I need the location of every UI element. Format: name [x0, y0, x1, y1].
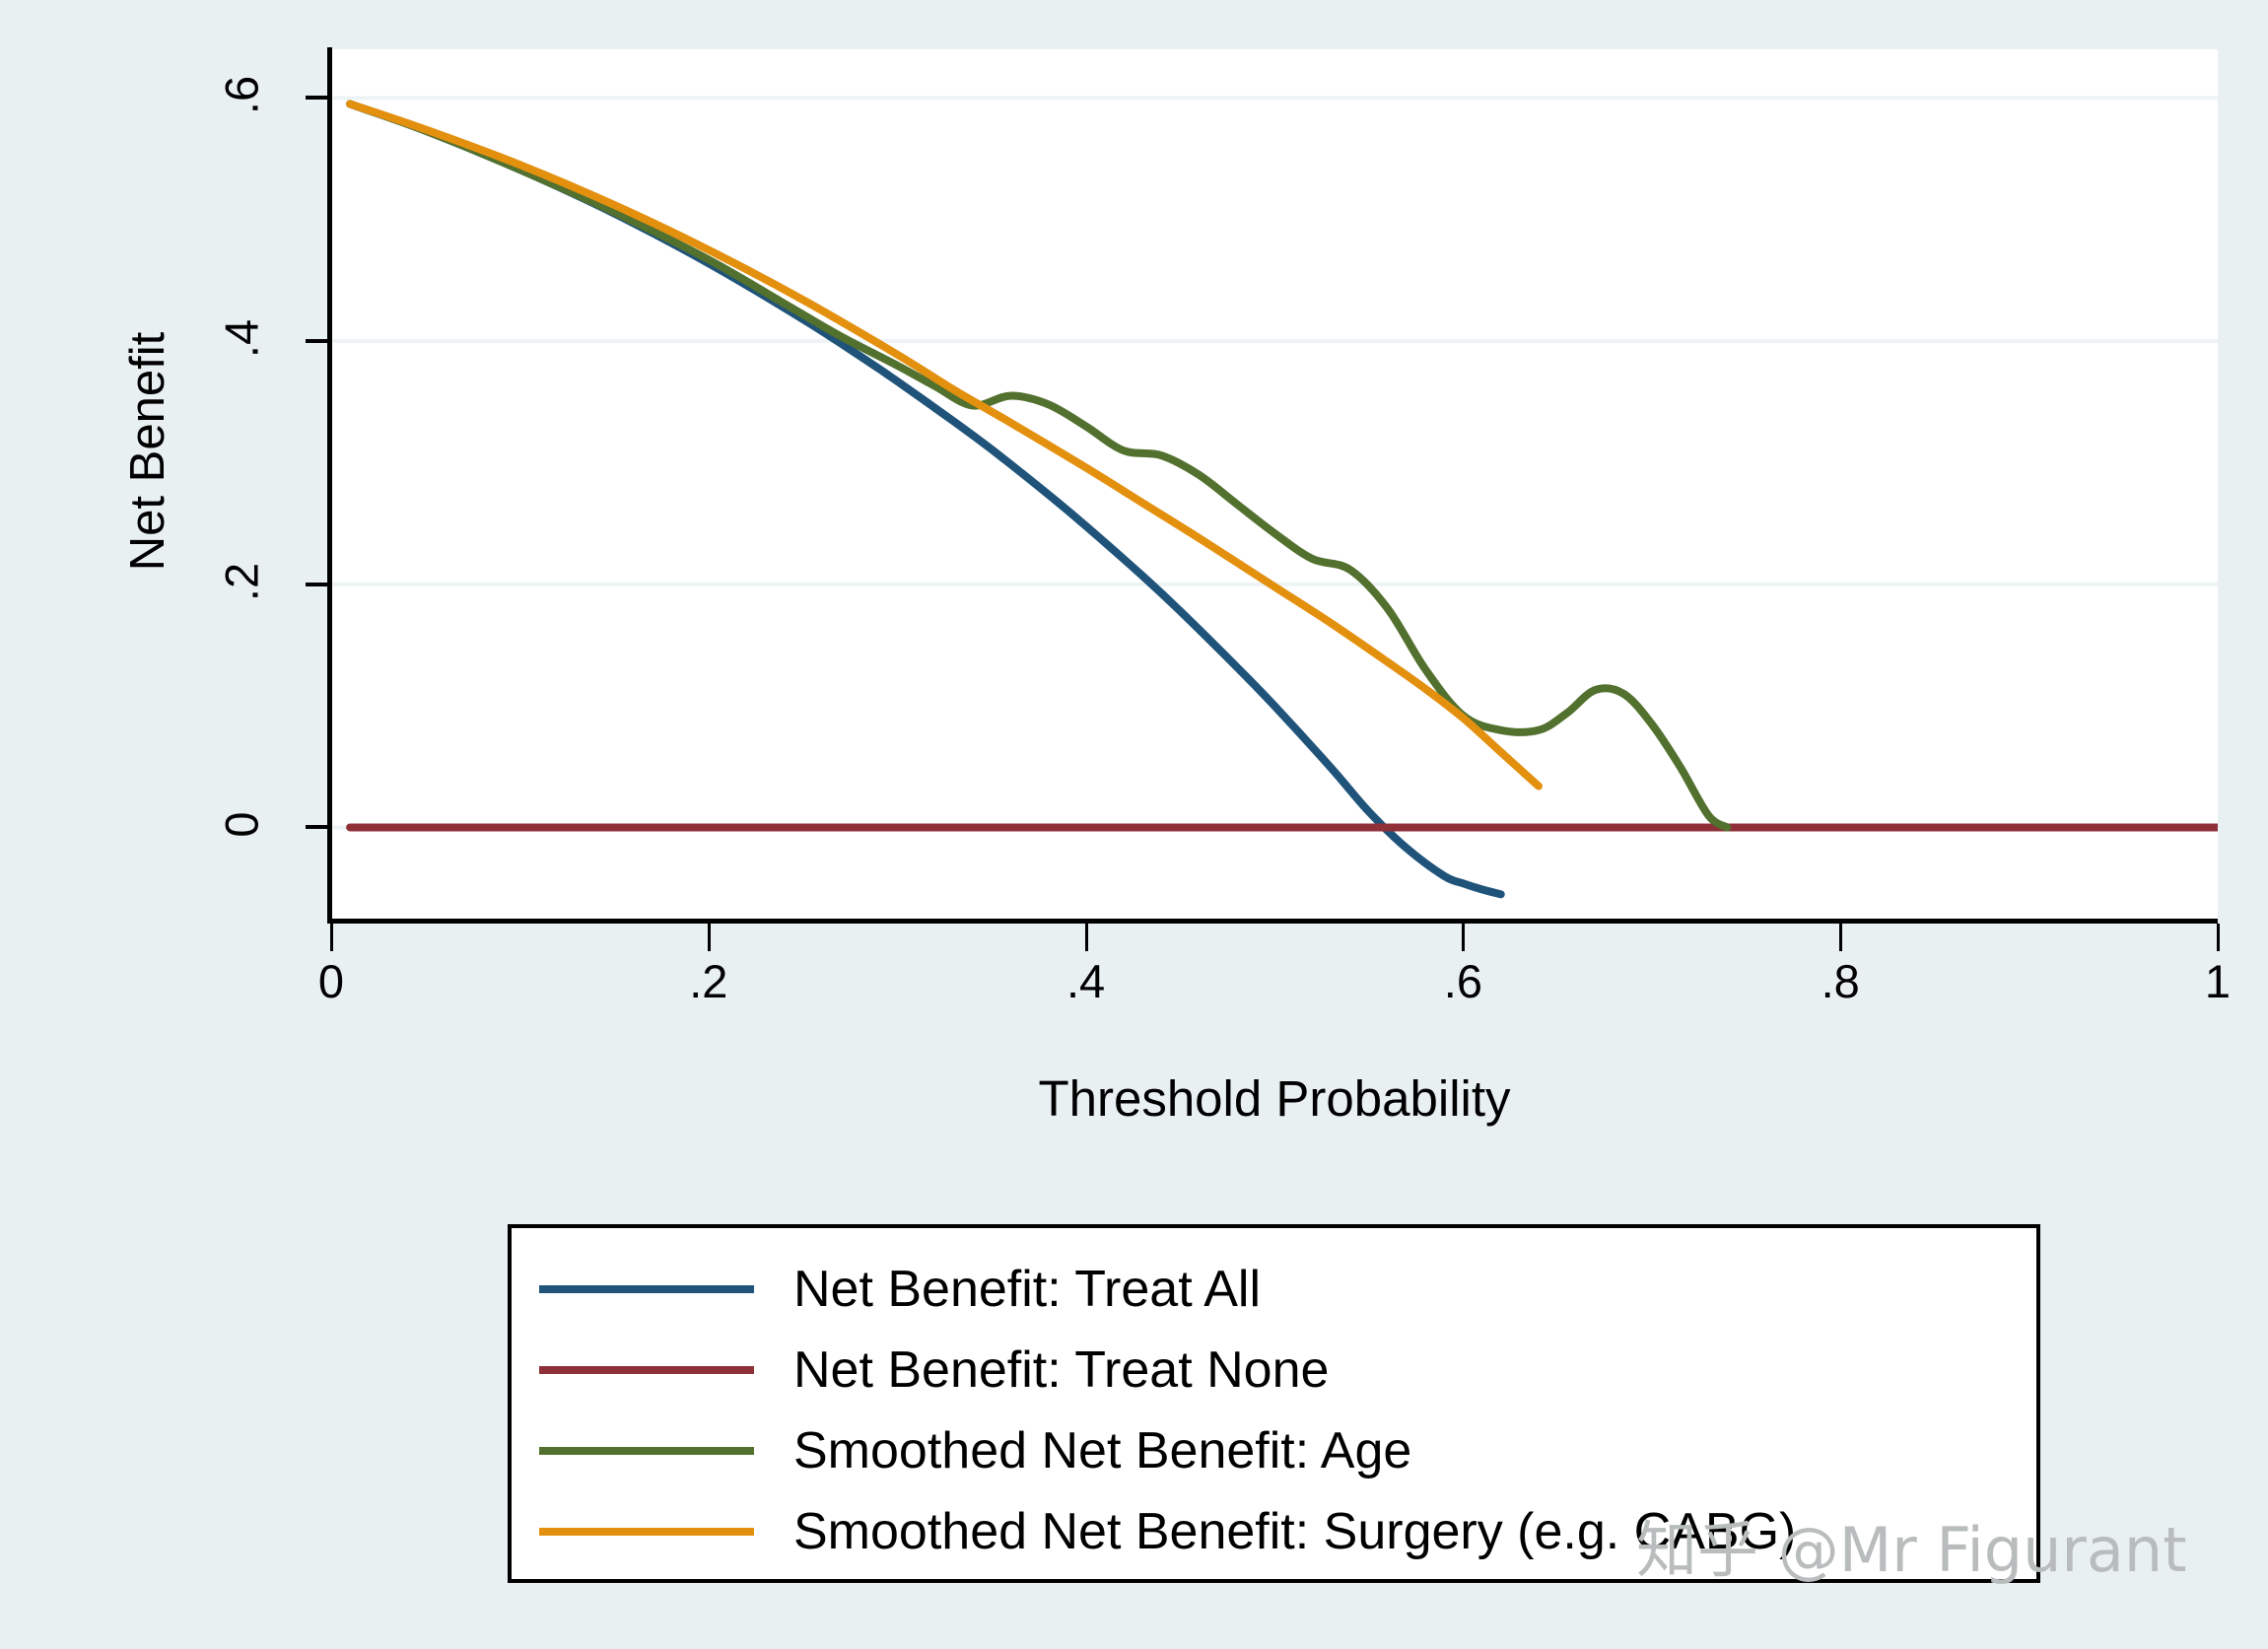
series-line-3	[350, 104, 1539, 787]
legend-swatch-treat-all	[539, 1285, 754, 1293]
x-tick-label-5: 1	[2159, 958, 2268, 1004]
x-tick-label-0: 0	[272, 958, 390, 1004]
x-tick-0	[330, 924, 333, 951]
legend-label-treat-all: Net Benefit: Treat All	[793, 1264, 1261, 1315]
legend: Net Benefit: Treat All Net Benefit: Trea…	[508, 1224, 2040, 1583]
x-tick-2	[1085, 924, 1088, 951]
y-tick-label-2: .4	[219, 285, 265, 393]
legend-swatch-age	[539, 1447, 754, 1455]
x-axis-line	[327, 919, 2218, 924]
legend-item-surgery: Smoothed Net Benefit: Surgery (e.g. CABG…	[539, 1492, 1796, 1571]
y-axis-line	[327, 47, 332, 923]
x-tick-label-4: .8	[1781, 958, 1899, 1004]
x-tick-3	[1462, 924, 1465, 951]
x-tick-label-1: .2	[650, 958, 768, 1004]
plot-area	[331, 49, 2218, 919]
y-axis-title: Net Benefit	[120, 244, 175, 658]
legend-swatch-treat-none	[539, 1366, 754, 1374]
series-line-2	[350, 104, 1727, 828]
legend-swatch-surgery	[539, 1528, 754, 1536]
legend-label-treat-none: Net Benefit: Treat None	[793, 1344, 1329, 1396]
legend-label-surgery: Smoothed Net Benefit: Surgery (e.g. CABG…	[793, 1506, 1796, 1557]
y-tick-label-3: .6	[219, 41, 265, 150]
y-tick-1	[306, 583, 327, 586]
decision-curve-figure: 0.2.4.6 0.2.4.6.81 Net Benefit Threshold…	[0, 0, 2268, 1649]
legend-item-age: Smoothed Net Benefit: Age	[539, 1411, 1411, 1490]
y-tick-3	[306, 96, 327, 100]
x-tick-1	[708, 924, 711, 951]
y-tick-2	[306, 339, 327, 343]
plot-canvas	[331, 49, 2218, 919]
legend-item-treat-all: Net Benefit: Treat All	[539, 1250, 1261, 1329]
x-axis-title: Threshold Probability	[331, 1069, 2218, 1128]
x-tick-label-3: .6	[1404, 958, 1522, 1004]
legend-label-age: Smoothed Net Benefit: Age	[793, 1425, 1411, 1477]
y-tick-0	[306, 825, 327, 829]
series-line-0	[350, 104, 1501, 895]
y-tick-label-0: 0	[219, 771, 265, 879]
x-tick-label-2: .4	[1027, 958, 1145, 1004]
x-tick-4	[1839, 924, 1842, 951]
legend-item-treat-none: Net Benefit: Treat None	[539, 1331, 1329, 1409]
y-tick-label-1: .2	[219, 527, 265, 636]
x-tick-5	[2217, 924, 2220, 951]
series-lines	[350, 104, 2218, 895]
